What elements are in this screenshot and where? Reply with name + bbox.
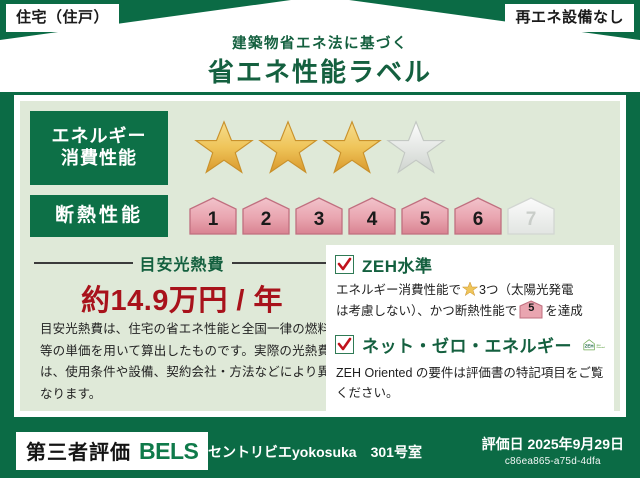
energy-performance-row: エネルギー 消費性能 [30, 109, 446, 187]
checkbox-checked-net-zero [335, 335, 354, 354]
insulation-badge-1: 1 [188, 196, 238, 236]
evaluation-date: 評価日 2025年9月29日 [482, 434, 624, 454]
inline-badge-number: 5 [519, 300, 543, 318]
insulation-level-badges: 1 2 3 4 5 [188, 196, 556, 236]
main-panel-frame: エネルギー 消費性能 [14, 95, 626, 417]
insulation-badge-2: 2 [241, 196, 291, 236]
svg-text:ZEH: ZEH [585, 343, 594, 348]
bels-certification-badge: 第三者評価 BELS [16, 432, 208, 470]
insulation-performance-label: 断熱性能 [30, 195, 168, 237]
cost-value: 約14.9万円 / 年 [34, 277, 330, 319]
insulation-badge-label-3: 3 [294, 209, 344, 231]
tag-renewable-status: 再エネ設備なし [505, 4, 634, 32]
zeh-desc-part-star: 3つ（太陽光発電 [479, 283, 573, 297]
cost-heading-text: 目安光熱費 [140, 251, 225, 275]
tag-building-type: 住宅（住戸） [6, 4, 119, 32]
zeh-standard-row: ZEH水準 [335, 252, 605, 277]
property-name: セントリビエyokosuka 301号室 [208, 442, 422, 462]
star-icon-filled-2 [258, 118, 318, 178]
insulation-badge-4: 4 [347, 196, 397, 236]
star-icon-filled-3 [322, 118, 382, 178]
insulation-badge-label-2: 2 [241, 209, 291, 231]
insulation-badge-label-1: 1 [188, 209, 238, 231]
star-icon-empty-4 [386, 118, 446, 178]
check-icon [337, 337, 352, 352]
energy-label-line1: エネルギー [52, 126, 147, 148]
zeh-desc-part-b: は考慮しない）、かつ断熱性能で [336, 304, 517, 318]
insulation-label-text: 断熱性能 [55, 204, 143, 227]
insulation-badge-3: 3 [294, 196, 344, 236]
insulation-badge-label-7: 7 [506, 209, 556, 231]
zeh-desc-part-a: エネルギー消費性能で [336, 283, 461, 297]
zeh-desc-part-c: を達成 [545, 304, 583, 318]
energy-performance-label: エネルギー 消費性能 [30, 111, 168, 185]
footer: 第三者評価 BELS セントリビエyokosuka 301号室 評価日 2025… [0, 422, 640, 478]
net-zero-energy-description: ZEH Oriented の要件は評価書の特記項目をご覧ください。 [336, 363, 605, 404]
zeh-standard-title: ZEH水準 [362, 252, 433, 277]
insulation-badge-label-6: 6 [453, 209, 503, 231]
energy-star-rating [194, 118, 446, 178]
title-subtitle: 建築物省エネ法に基づく [0, 36, 640, 53]
zeh-house-logo-icon: ZEH ZEH Oriented [583, 330, 605, 360]
cost-heading: 目安光熱費 [34, 251, 330, 275]
zeh-standard-description: エネルギー消費性能で3つ（太陽光発電 は考慮しない）、かつ断熱性能で5を達成 [336, 280, 605, 322]
page-title: 建築物省エネ法に基づく 省エネ性能ラベル [0, 36, 640, 89]
insulation-badge-6: 6 [453, 196, 503, 236]
net-zero-energy-title: ネット・ゼロ・エネルギー [362, 332, 572, 357]
star-icon-filled-1 [194, 118, 254, 178]
bels-logo-text: BELS [139, 438, 198, 465]
inline-star-icon [462, 281, 478, 297]
energy-label-line2: 消費性能 [61, 148, 137, 170]
insulation-badge-5: 5 [400, 196, 450, 236]
zeh-info-card: ZEH水準 エネルギー消費性能で3つ（太陽光発電 は考慮しない）、かつ断熱性能で… [326, 245, 614, 411]
cost-rule-right [232, 262, 331, 264]
evaluation-id: c86ea865-a75d-4dfa [482, 456, 624, 467]
insulation-badge-label-5: 5 [400, 209, 450, 231]
inline-insulation-badge-icon: 5 [519, 300, 543, 319]
svg-text:ZEH: ZEH [596, 344, 601, 346]
energy-performance-label: 住宅（住戸） 再エネ設備なし 建築物省エネ法に基づく 省エネ性能ラベル エネルギ… [0, 0, 640, 478]
checkbox-checked-zeh-standard [335, 255, 354, 274]
bels-japanese-label: 第三者評価 [26, 436, 131, 465]
check-icon [337, 257, 352, 272]
main-panel: エネルギー 消費性能 [20, 101, 620, 411]
net-zero-energy-row: ネット・ゼロ・エネルギー ZEH ZEH Oriented [335, 330, 605, 360]
insulation-badge-label-4: 4 [347, 209, 397, 231]
insulation-performance-row: 断熱性能 1 2 3 [30, 193, 556, 239]
insulation-badge-7: 7 [506, 196, 556, 236]
title-main: 省エネ性能ラベル [0, 56, 640, 89]
cost-note: 目安光熱費は、住宅の省エネ性能と全国一律の燃料等の単価を用いて算出したものです。… [40, 319, 330, 405]
cost-rule-left [34, 262, 133, 264]
evaluation-info: 評価日 2025年9月29日 c86ea865-a75d-4dfa [482, 434, 624, 467]
